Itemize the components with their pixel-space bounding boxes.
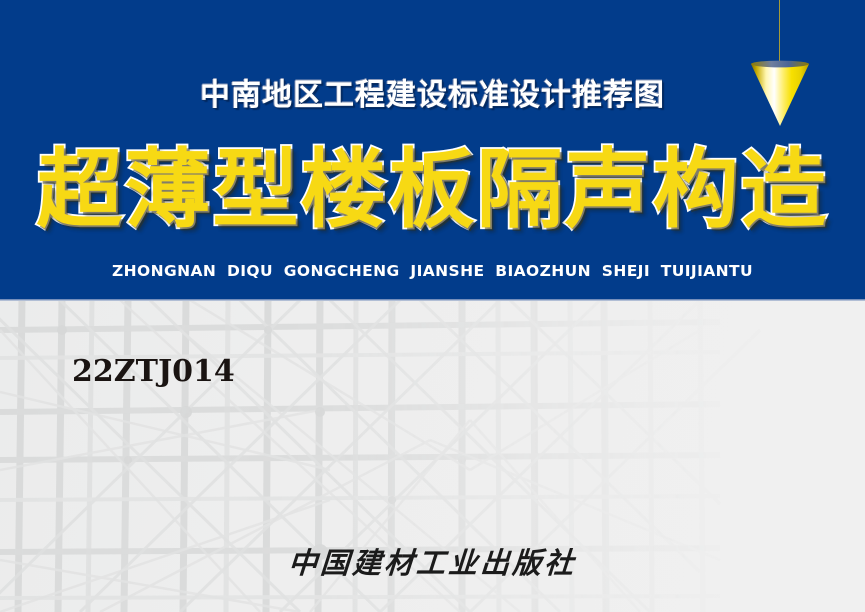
plumb-line-icon [779,0,780,62]
atlas-code: 22ZTJ014 [72,354,235,389]
book-cover: 中南地区工程建设标准设计推荐图 超薄型楼板隔声构造 ZHONGNAN DIQU … [0,0,865,612]
header-band-edge [0,299,865,301]
main-title: 超薄型楼板隔声构造 [37,138,829,242]
publisher-name: 中国建材工业出版社 [0,540,865,582]
series-title-pinyin: ZHONGNAN DIQU GONGCHENG JIANSHE BIAOZHUN… [0,262,865,280]
series-title: 中南地区工程建设标准设计推荐图 [0,70,865,114]
main-title-container: 超薄型楼板隔声构造 [0,138,865,242]
